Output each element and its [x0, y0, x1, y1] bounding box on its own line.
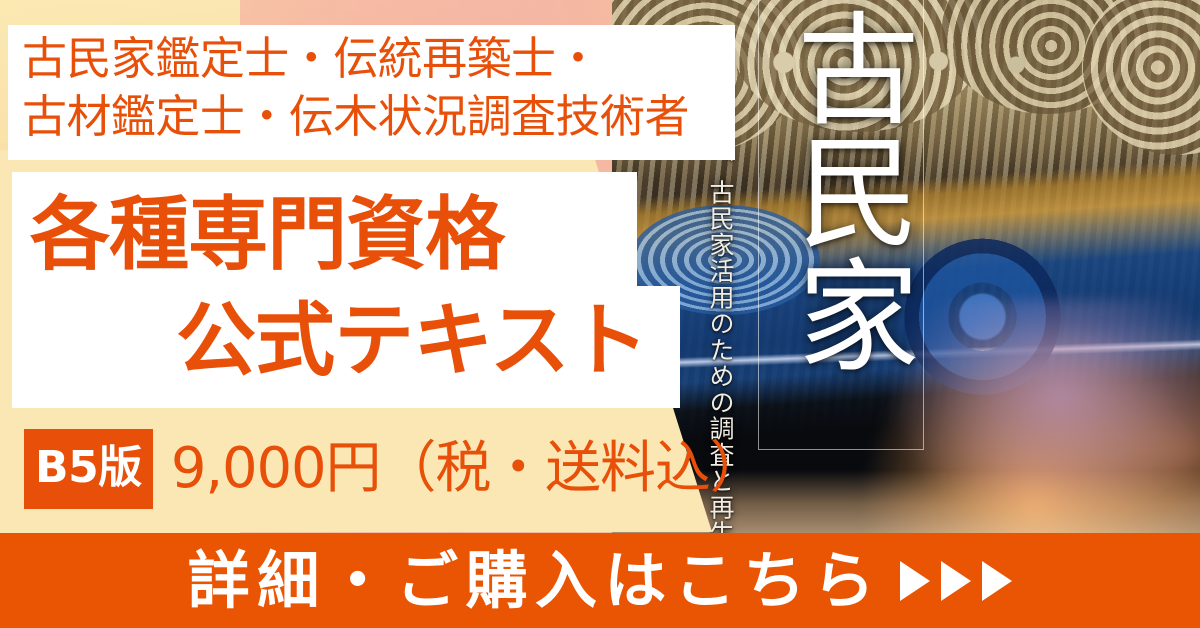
price-text: 9,000円（税・送料込）	[171, 441, 765, 497]
cta-button[interactable]: 詳細・ご購入はこちら	[0, 533, 1200, 628]
format-badge: B5版	[24, 429, 153, 509]
cta-label: 詳細・ご購入はこちら	[188, 550, 882, 612]
page-title: 各種専門資格 公式テキスト	[16, 182, 676, 394]
play-triangle-icon	[982, 561, 1012, 601]
book-cover-title: 古民家	[762, 6, 920, 448]
price-row: B5版 9,000円（税・送料込）	[24, 428, 765, 510]
cta-arrow-group	[900, 561, 1012, 601]
headline-line-2: 古材鑑定士・伝木状況調査技術者	[18, 88, 738, 146]
main-title-line-2: 公式テキスト	[16, 288, 676, 394]
main-title-line-1: 各種専門資格	[16, 182, 676, 288]
play-triangle-icon	[900, 561, 930, 601]
play-triangle-icon	[941, 561, 971, 601]
headline-line-1: 古民家鑑定士・伝統再築士・	[18, 30, 738, 88]
promo-banner: 古民家 伝統構法、古民家活用のための調査と再生の 古民家鑑定士・伝統再築士・ 古…	[0, 0, 1200, 628]
qualification-headline: 古民家鑑定士・伝統再築士・ 古材鑑定士・伝木状況調査技術者	[18, 30, 738, 146]
